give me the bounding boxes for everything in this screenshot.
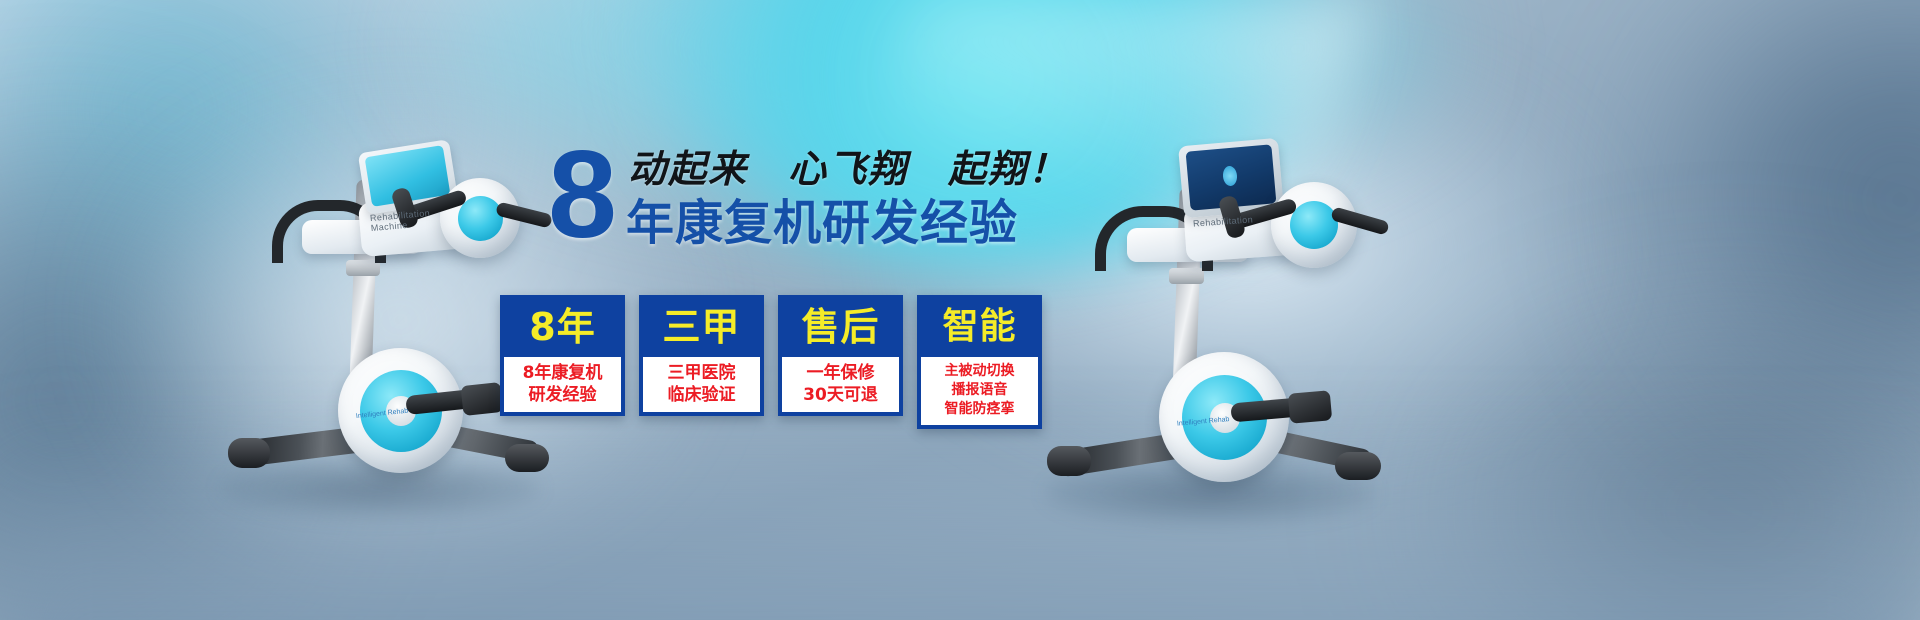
feature-badge-after-sales[interactable]: 售后 一年保修 30天可退 [778,295,903,416]
badge-title: 售后 [782,299,899,357]
badge-title: 智能 [921,299,1038,357]
headline-main: 年康复机研发经验 [626,194,1018,252]
badge-title: 8年 [504,299,621,357]
transport-wheel-rear [228,438,270,468]
badge-line: 智能防痉挛 [924,400,1035,419]
arm-crank-cyan-face [458,196,503,241]
badge-body: 三甲医院 临床验证 [643,357,760,412]
transport-wheel-front [1335,452,1381,480]
badge-line: 8年康复机 [507,362,618,384]
foot-pedal-pad [461,382,504,416]
badge-body: 8年康复机 研发经验 [504,357,621,412]
foot-pedal-pad [1288,390,1332,424]
feature-badge-smart[interactable]: 智能 主被动切换 播报语音 智能防痉挛 [917,295,1042,429]
transport-wheel-front [505,444,549,472]
product-rehab-bike-right: Rehabilitation Intelligent Rehab [1035,70,1380,520]
transport-wheel-rear [1047,446,1091,476]
badge-line: 30天可退 [785,384,896,406]
badge-body: 主被动切换 播报语音 智能防痉挛 [921,357,1038,425]
feature-badge-hospital[interactable]: 三甲 三甲医院 临床验证 [639,295,764,416]
badge-line: 临床验证 [646,384,757,406]
arm-crank-cyan-face [1290,201,1338,249]
badge-line: 主被动切换 [924,362,1035,381]
headline-big-number: 8 [548,136,617,254]
badge-line: 一年保修 [785,362,896,384]
badge-line: 三甲医院 [646,362,757,384]
badge-body: 一年保修 30天可退 [782,357,899,412]
badge-line: 研发经验 [507,384,618,406]
feature-badge-group: 8年 8年康复机 研发经验 三甲 三甲医院 临床验证 售后 一年保修 30天可退… [500,295,1042,429]
badge-line: 播报语音 [924,381,1035,400]
headline-tagline: 动起来 心飞翔 起翔！ [628,146,1068,192]
feature-badge-years[interactable]: 8年 8年康复机 研发经验 [500,295,625,416]
headline-block: 8 动起来 心飞翔 起翔！ 年康复机研发经验 [548,140,1068,265]
promo-banner: Rehabilitation Machine Intelligent Rehab… [0,0,1920,620]
badge-title: 三甲 [643,299,760,357]
product-rehab-bike-left: Rehabilitation Machine Intelligent Rehab [210,60,540,510]
